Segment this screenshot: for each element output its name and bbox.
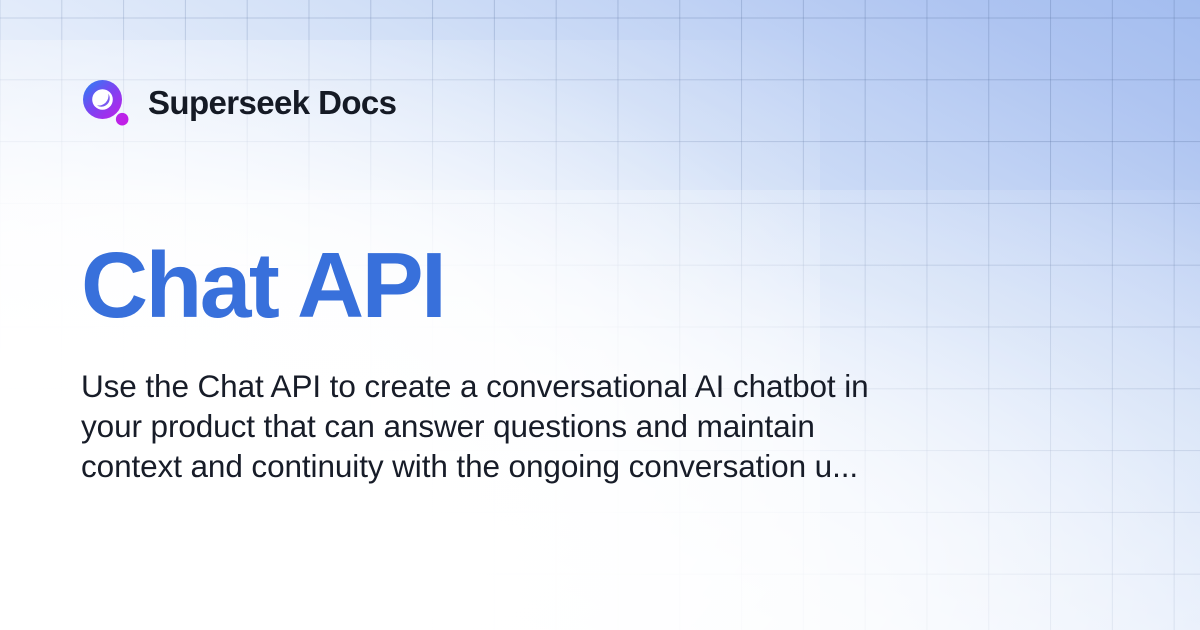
page-title: Chat API [81,239,1120,332]
og-card: Superseek Docs Chat API Use the Chat API… [0,0,1200,630]
superseek-logo-icon [81,78,131,128]
page-description: Use the Chat API to create a conversatio… [81,366,871,486]
brand-row: Superseek Docs [81,78,1120,126]
card-content: Superseek Docs Chat API Use the Chat API… [0,0,1200,630]
brand-name: Superseek Docs [148,86,396,119]
